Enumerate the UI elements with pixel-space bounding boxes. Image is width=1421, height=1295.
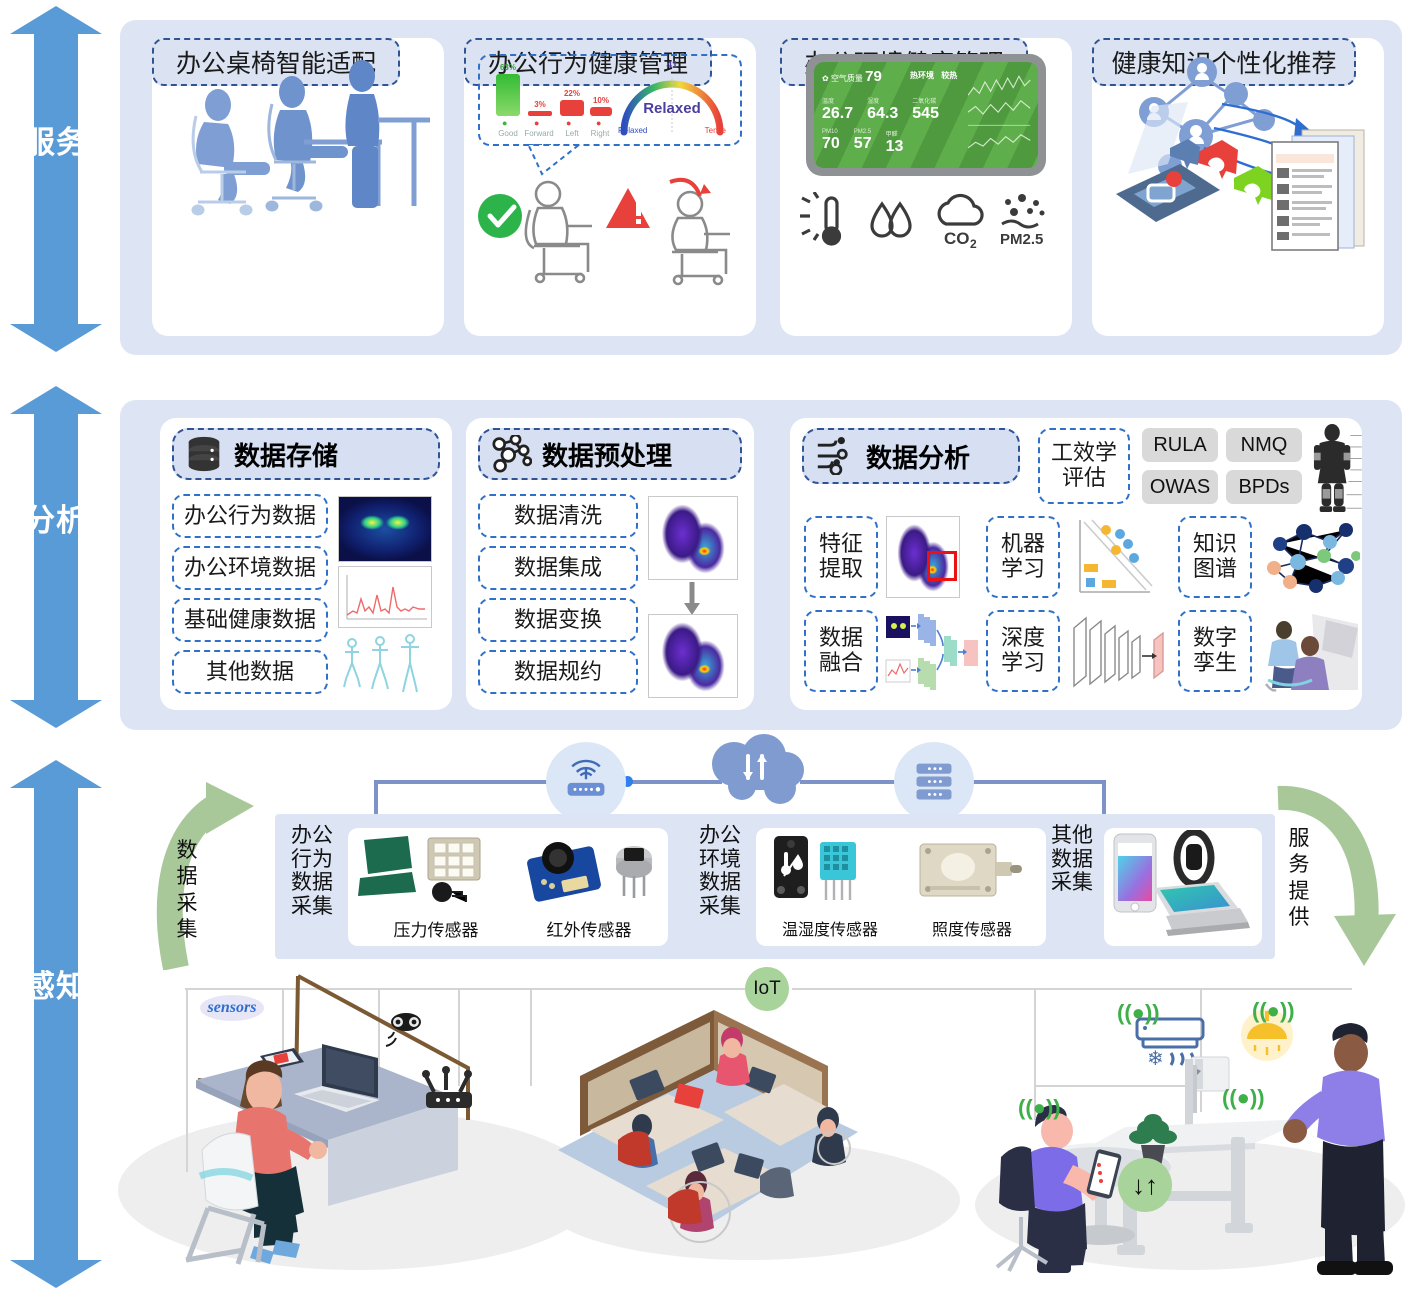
knowledge-recommendation-icon (1092, 44, 1384, 254)
fusion-network-thumb (884, 610, 980, 694)
cnn-layers-thumb (1068, 610, 1178, 694)
height-adjust-icon: ↓↑ (1118, 1158, 1172, 1212)
stress-gauge: 41 Relaxed Relaxed Tense (614, 60, 730, 144)
data-collection-arrow (150, 780, 280, 970)
layer-label-sensing: 感知 (10, 970, 102, 1003)
analysis-card-storage[interactable]: 数据存储 办公行为数据 办公环境数据 基础健康数据 其他数据 (160, 418, 452, 710)
layer-label-analysis: 分析 (10, 504, 102, 537)
sensor-caption-pressure: 压力传感器 (356, 916, 516, 941)
temperature-sun-icon (800, 192, 840, 244)
server-rack-icon (911, 759, 957, 805)
preprocess-item-cleaning[interactable]: 数据清洗 (478, 494, 638, 538)
skeleton-pose-thumb (338, 632, 432, 696)
wifi-signal-icon-desk: ((●)) (1222, 1085, 1265, 1111)
feature-heatmap-thumb (886, 516, 960, 598)
service-card-knowledge-recommendation[interactable]: 健康知识个性化推荐 (1092, 38, 1384, 336)
open-office-scene (528, 1000, 948, 1280)
ergonomics-tag-rula[interactable]: RULA (1142, 428, 1218, 462)
ergonomics-tag-owas[interactable]: OWAS (1142, 470, 1218, 504)
workstation-scene-left (168, 970, 568, 1270)
arrow-shaft (34, 32, 78, 326)
layer-arrow-analysis: 分析 (10, 386, 102, 728)
svg-text:PM2.5: PM2.5 (1000, 231, 1043, 248)
sensor-caption-infrared: 红外传感器 (514, 916, 664, 941)
physiological-signal-thumb (338, 566, 432, 628)
storage-item-health[interactable]: 基础健康数据 (172, 598, 328, 642)
wifi-signal-icon-ac: ((●)) (1117, 1000, 1160, 1026)
analytics-flow-icon (814, 437, 856, 475)
ergonomics-assessment-label[interactable]: 工效学 评估 (1038, 428, 1130, 504)
arrow-head-down-icon (10, 700, 102, 728)
pressure-sensor-icon (354, 834, 514, 904)
infrared-sensor-icon (518, 834, 668, 904)
preprocess-item-transform[interactable]: 数据变换 (478, 598, 638, 642)
layer-label-service: 服务 (10, 126, 102, 159)
wifi-signal-icon-lamp: ((●)) (1252, 998, 1295, 1024)
method-knowledge-graph[interactable]: 知识 图谱 (1178, 516, 1252, 598)
temp-humidity-sensor-icon (762, 834, 892, 904)
raw-pressure-map-thumb (648, 496, 738, 580)
analysis-card-analytics[interactable]: 数据分析 工效学 评估 RULA NMQ OWAS BPDs 特征 (790, 418, 1362, 710)
preprocess-item-integration[interactable]: 数据集成 (478, 546, 638, 590)
body-map-icon (1306, 424, 1364, 512)
server-rack-node[interactable] (894, 742, 974, 822)
service-provision-label: 服务提供 (1284, 826, 1314, 931)
humidity-drops-icon (872, 204, 910, 236)
node-graph-icon (490, 435, 532, 473)
svm-scatter-thumb (1070, 516, 1154, 600)
pm25-particles-icon: PM2.5 (1000, 194, 1045, 248)
method-machine-learning[interactable]: 机器 学习 (986, 516, 1060, 598)
storage-item-other[interactable]: 其他数据 (172, 650, 328, 694)
arrow-shaft (34, 412, 78, 702)
layer-arrow-service: 服务 (10, 6, 102, 352)
environment-metric-icons: CO 2 PM2.5 (796, 192, 1056, 252)
air-quality-label: 空气质量 (831, 74, 863, 83)
air-quality-value: 79 (865, 68, 882, 85)
arrow-head-up-icon (10, 6, 102, 34)
storage-item-behavior[interactable]: 办公行为数据 (172, 494, 328, 538)
method-feature-extraction[interactable]: 特征 提取 (804, 516, 878, 598)
method-deep-learning[interactable]: 深度 学习 (986, 610, 1060, 692)
layer-arrow-sensing: 感知 (10, 760, 102, 1288)
sensor-group-box-environment: 温湿度传感器 照度传感器 (756, 828, 1046, 946)
storage-item-environment[interactable]: 办公环境数据 (172, 546, 328, 590)
ergonomics-tag-nmq[interactable]: NMQ (1226, 428, 1302, 462)
sensor-caption-illuminance: 照度传感器 (902, 916, 1042, 940)
digital-twin-thumb (1260, 610, 1360, 694)
wifi-router-node[interactable] (546, 742, 626, 822)
arrow-head-down-icon (10, 324, 102, 352)
svg-text:2: 2 (970, 237, 977, 251)
iot-divider-right (792, 988, 1352, 990)
cloud-sync-node[interactable] (700, 734, 806, 808)
database-icon (184, 436, 224, 472)
data-collection-label: 数据采集 (172, 838, 202, 943)
arrow-shaft (34, 786, 78, 1262)
ergonomics-tag-bpds[interactable]: BPDs (1226, 470, 1302, 504)
preprocess-item-reduction[interactable]: 数据规约 (478, 650, 638, 694)
arrow-head-down-icon (10, 1260, 102, 1288)
arrow-head-up-icon (10, 386, 102, 414)
sensor-group-box-other (1104, 828, 1262, 946)
sensor-group-box-behavior: 压力传感器 红外传感器 (348, 828, 668, 946)
cloud-sync-icon (700, 734, 806, 808)
office-chair-posture-icon (152, 50, 444, 260)
svg-text:❄: ❄ (1147, 1048, 1164, 1070)
preprocess-header: 数据预处理 (478, 428, 742, 480)
service-card-environment-health[interactable]: ✿ 空气质量 79 热环境 较热 温度 26.7 湿度 64.3 二氧化碳 54… (780, 38, 1072, 336)
sensor-group-label-other: 其他数据采集 (1042, 824, 1102, 895)
connector-right-horizontal (960, 780, 1106, 784)
svg-text:CO: CO (944, 229, 970, 248)
method-digital-twin[interactable]: 数字 孪生 (1178, 610, 1252, 692)
layer-axis: 服务 分析 感知 (0, 0, 112, 1294)
wifi-router-icon (560, 759, 612, 805)
sensor-caption-temp-humidity: 温湿度传感器 (756, 916, 904, 940)
arrow-down-icon (682, 582, 702, 616)
phone-wearable-laptop-icon (1106, 830, 1256, 942)
analytics-header: 数据分析 (802, 428, 1020, 484)
service-card-chair-fit[interactable]: 办公桌椅智能适配 (152, 38, 444, 336)
storage-header: 数据存储 (172, 428, 440, 480)
knowledge-graph-thumb (1260, 516, 1360, 600)
connector-left-horizontal (374, 780, 570, 784)
cleaned-pressure-map-thumb (648, 614, 738, 698)
pressure-heatmap-thumb (338, 496, 432, 562)
posture-comparison-icon (464, 168, 756, 288)
illuminance-sensor-icon (906, 834, 1036, 904)
height-adjustable-desk-scene: ❄ (995, 995, 1415, 1295)
wifi-signal-icon-chair: ((●)) (1018, 1095, 1061, 1121)
connector-cloud-server (800, 780, 904, 784)
environment-dashboard-icon: ✿ 空气质量 79 热环境 较热 温度 26.7 湿度 64.3 二氧化碳 54… (806, 54, 1046, 176)
service-card-behavior-health[interactable]: 63% 3% 22% 10% ● ● ● ● Good Forward Left… (464, 38, 756, 336)
analysis-card-preprocess[interactable]: 数据预处理 数据清洗 数据集成 数据变换 数据规约 (466, 418, 754, 710)
arrow-head-up-icon (10, 760, 102, 788)
sensor-group-label-behavior: 办公行为数据采集 (282, 824, 342, 918)
co2-cloud-icon: CO 2 (939, 195, 982, 251)
posture-bar-chart: 63% 3% 22% 10% ● ● ● ● Good Forward Left… (494, 64, 614, 138)
posture-summary-panel: 63% 3% 22% 10% ● ● ● ● Good Forward Left… (478, 54, 742, 146)
method-data-fusion[interactable]: 数据 融合 (804, 610, 878, 692)
sensor-group-label-environment: 办公环境数据采集 (690, 824, 750, 918)
